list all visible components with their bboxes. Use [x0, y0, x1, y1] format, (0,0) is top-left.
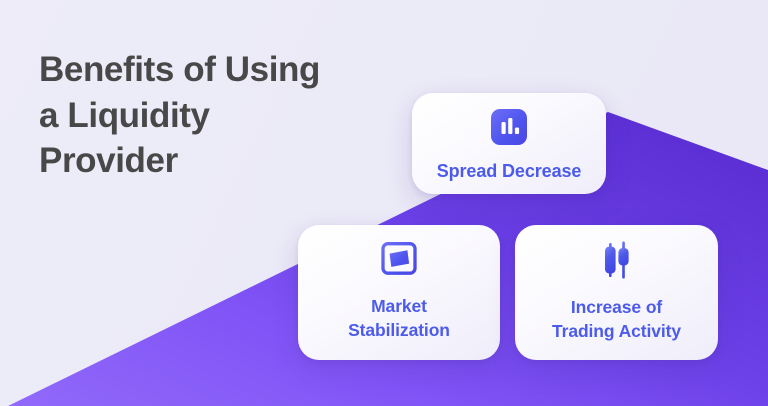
benefit-card-trading-activity[interactable]: Increase of Trading Activity — [515, 225, 718, 360]
bar-chart-icon — [490, 108, 528, 146]
benefit-card-label: Market Stabilization — [348, 295, 450, 342]
benefit-card-spread-decrease[interactable]: Spread Decrease — [412, 93, 606, 194]
page-title: Benefits of Using a Liquidity Provider — [39, 47, 429, 182]
picture-frame-icon — [381, 242, 417, 275]
infographic-canvas: Benefits of Using a Liquidity Provider S… — [0, 0, 768, 406]
benefit-card-label: Spread Decrease — [437, 159, 582, 183]
benefit-card-market-stabilization[interactable]: Market Stabilization — [298, 225, 500, 360]
benefit-card-label: Increase of Trading Activity — [552, 296, 681, 343]
candlestick-chart-icon — [600, 241, 634, 279]
